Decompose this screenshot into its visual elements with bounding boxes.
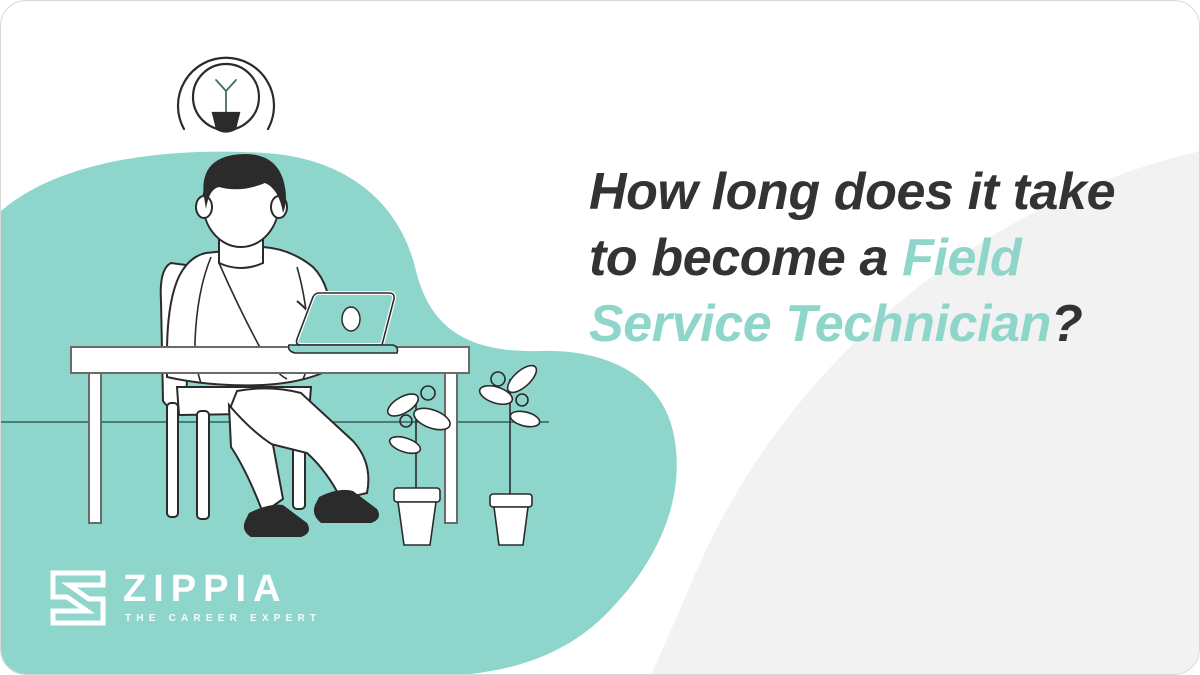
headline-accent-1: Field: [902, 229, 1021, 287]
headline-line-1: How long does it take: [589, 163, 1115, 221]
zippia-name: ZIPPIA: [123, 569, 321, 609]
headline-line-2-prefix: to become a: [589, 229, 902, 287]
zippia-wordmark: ZIPPIA THE CAREER EXPERT: [123, 569, 321, 627]
zippia-tagline: THE CAREER EXPERT: [125, 611, 321, 627]
zippia-z-mark-icon: [49, 569, 107, 627]
headline-suffix: ?: [1051, 295, 1082, 353]
zippia-logo[interactable]: ZIPPIA THE CAREER EXPERT: [49, 569, 321, 627]
laptop-logo: [342, 307, 360, 331]
desk-top: [71, 347, 469, 373]
desk-leg-left: [89, 373, 101, 523]
desk-leg-right: [445, 373, 457, 523]
page-title: How long does it take to become a Field …: [589, 159, 1189, 357]
promo-card: How long does it take to become a Field …: [0, 0, 1200, 675]
headline-accent-2: Service Technician: [589, 295, 1051, 353]
